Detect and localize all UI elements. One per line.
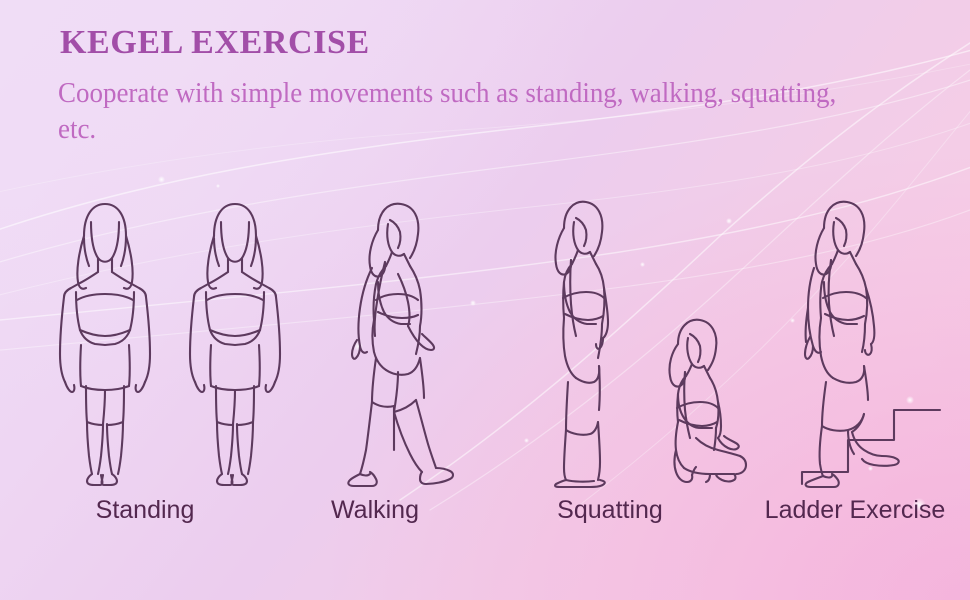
standing-figure-front-2 (176, 196, 294, 486)
figure-row (0, 186, 970, 486)
page-title: KEGEL EXERCISE (60, 24, 370, 62)
squatting-low-figure (646, 316, 752, 486)
sparkle-dot (158, 176, 165, 183)
squatting-standing-figure (530, 196, 620, 486)
exercise-label-squatting: Squatting (557, 496, 663, 525)
walking-figure (328, 196, 458, 486)
kegel-exercise-poster: KEGEL EXERCISE Cooperate with simple mov… (0, 0, 970, 600)
exercise-label-ladder-exercise: Ladder Exercise (765, 496, 946, 525)
standing-figure-front-1 (46, 196, 164, 486)
exercise-label-walking: Walking (331, 496, 419, 525)
stairs-icon (800, 396, 950, 488)
exercise-label-standing: Standing (96, 496, 195, 525)
page-subtitle: Cooperate with simple movements such as … (58, 76, 839, 148)
